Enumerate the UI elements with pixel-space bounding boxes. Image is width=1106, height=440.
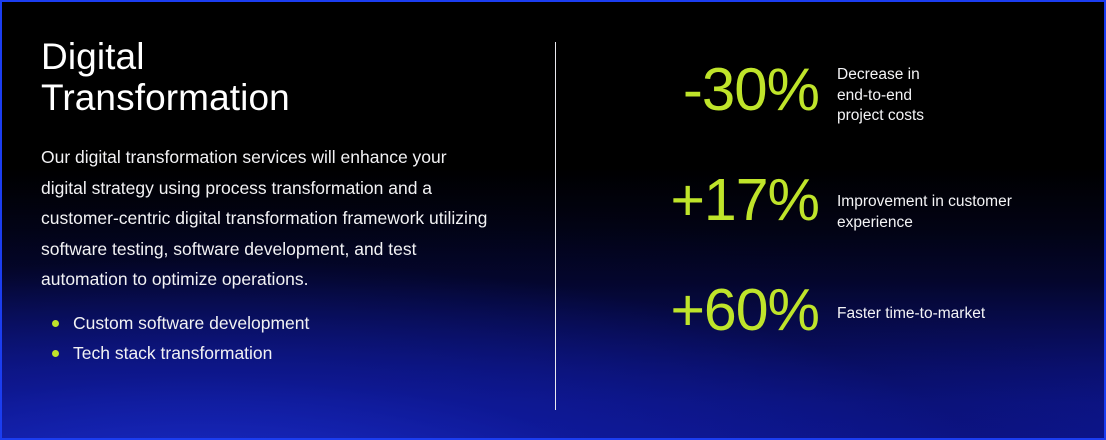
stat-value: +60% bbox=[602, 280, 837, 340]
page-title: Digital Transformation bbox=[41, 36, 511, 118]
left-content-column: Digital Transformation Our digital trans… bbox=[41, 36, 511, 368]
stat-item: +60% Faster time-to-market bbox=[602, 280, 1092, 386]
stat-label: Improvement in customer experience bbox=[837, 170, 1092, 233]
stat-label: Faster time-to-market bbox=[837, 280, 1092, 325]
stat-label: Decrease in end-to-end project costs bbox=[837, 60, 1092, 127]
stat-item: +17% Improvement in customer experience bbox=[602, 170, 1092, 276]
stat-value: +17% bbox=[602, 170, 837, 230]
list-item: Tech stack transformation bbox=[41, 338, 511, 368]
intro-paragraph: Our digital transformation services will… bbox=[41, 142, 496, 295]
column-divider bbox=[555, 42, 556, 410]
list-item-label: Tech stack transformation bbox=[73, 343, 272, 363]
bullet-dot-icon bbox=[52, 320, 59, 327]
statistics-column: -30% Decrease in end-to-end project cost… bbox=[602, 60, 1092, 386]
list-item-label: Custom software development bbox=[73, 313, 309, 333]
feature-list: Custom software development Tech stack t… bbox=[41, 308, 511, 368]
list-item: Custom software development bbox=[41, 308, 511, 338]
digital-transformation-slide: Digital Transformation Our digital trans… bbox=[0, 0, 1106, 440]
stat-value: -30% bbox=[602, 60, 837, 120]
bullet-dot-icon bbox=[52, 350, 59, 357]
stat-item: -30% Decrease in end-to-end project cost… bbox=[602, 60, 1092, 166]
